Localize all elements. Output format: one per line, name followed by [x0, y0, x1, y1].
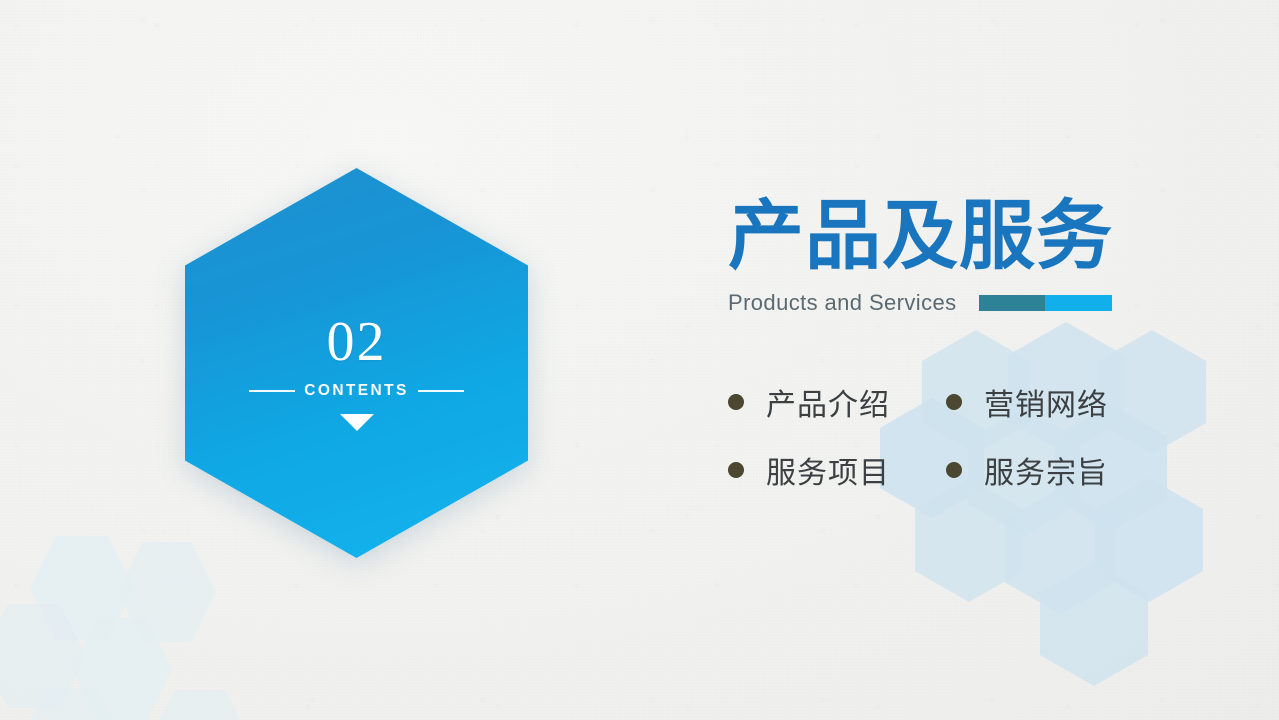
- list-item-label: 营销网络: [984, 380, 1108, 424]
- bullet-dot-icon: [946, 394, 962, 410]
- page-title: 产品及服务: [728, 196, 1113, 278]
- contents-label: CONTENTS: [304, 382, 408, 400]
- page-subtitle: Products and Services: [728, 290, 957, 316]
- decorative-hexagon: [1040, 562, 1148, 686]
- bullet-dot-icon: [946, 462, 962, 478]
- decorative-hexagon: [150, 690, 250, 720]
- rule-left: [249, 390, 295, 392]
- list-item-label: 服务宗旨: [984, 448, 1108, 492]
- rule-right: [418, 390, 464, 392]
- agenda-list: 产品介绍 营销网络 服务项目 服务宗旨: [728, 380, 1113, 492]
- decorative-hexagon: [72, 618, 172, 720]
- list-item-label: 产品介绍: [766, 380, 890, 424]
- decorative-hexagon: [1098, 330, 1206, 454]
- contents-hexagon-badge[interactable]: 02 CONTENTS: [185, 168, 528, 558]
- bullet-dot-icon: [728, 394, 744, 410]
- list-item[interactable]: 产品介绍: [728, 380, 946, 424]
- triangle-down-icon: [340, 414, 374, 431]
- decorative-hexagon: [915, 478, 1023, 602]
- accent-bar: [979, 295, 1112, 311]
- decorative-hexagon: [1005, 488, 1115, 614]
- decorative-hexagon: [22, 688, 122, 720]
- decorative-hexagon: [1095, 478, 1203, 602]
- list-item-label: 服务项目: [766, 448, 890, 492]
- contents-label-row: CONTENTS: [249, 382, 463, 400]
- subtitle-row: Products and Services: [728, 290, 1113, 316]
- section-number: 02: [327, 314, 387, 370]
- list-item[interactable]: 服务项目: [728, 448, 946, 492]
- contents-badge-content: 02 CONTENTS: [185, 168, 528, 558]
- list-item[interactable]: 营销网络: [946, 380, 1113, 424]
- header-block: 产品及服务 Products and Services 产品介绍 营销网络 服务…: [728, 196, 1113, 492]
- bullet-dot-icon: [728, 462, 744, 478]
- accent-bar-segment-right: [1045, 295, 1112, 311]
- decorative-hexagon: [0, 604, 86, 708]
- presentation-slide: 02 CONTENTS 产品及服务 Products and Services …: [0, 0, 1279, 720]
- list-item[interactable]: 服务宗旨: [946, 448, 1113, 492]
- decorative-hexagon: [30, 536, 134, 640]
- accent-bar-segment-left: [979, 295, 1046, 311]
